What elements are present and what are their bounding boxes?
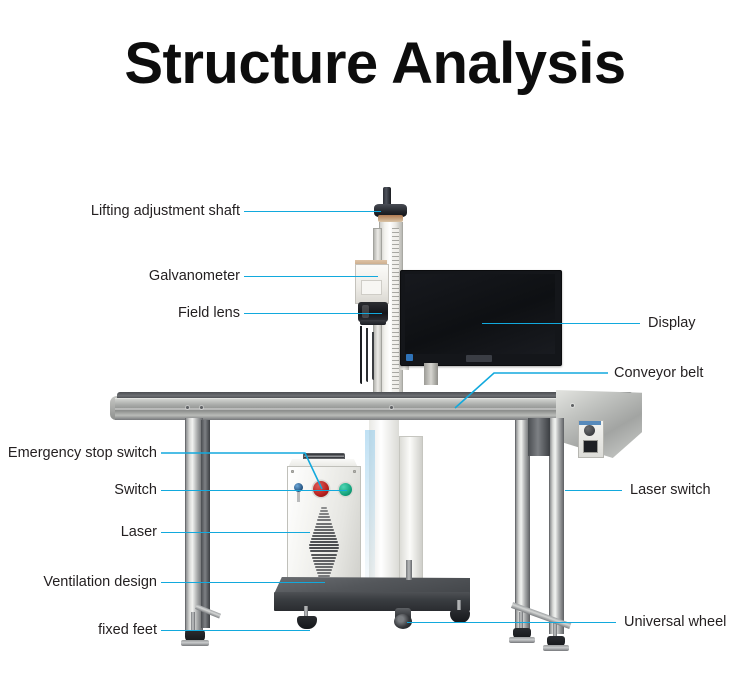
leader-line-field-lens	[244, 313, 382, 314]
vent-slot	[310, 541, 339, 543]
conveyor-bolt	[186, 406, 189, 409]
cable-bundle-a	[360, 326, 362, 384]
vent-slot	[312, 557, 337, 559]
leader-line-fixed-feet	[161, 630, 310, 631]
display-power-led-icon	[406, 354, 413, 361]
left-leg-foot-pad	[181, 640, 209, 646]
conveyor-bolt	[390, 406, 393, 409]
callout-label-laser-switch: Laser switch	[630, 483, 711, 498]
leader-line-ventilation-design	[161, 582, 325, 583]
diagram-canvas: Structure Analysis	[0, 0, 750, 686]
cart-upright-post	[406, 560, 412, 580]
galvanometer-face-plate	[361, 280, 382, 295]
callout-label-field-lens: Field lens	[178, 306, 240, 321]
vent-slot	[315, 566, 333, 568]
leader-line-universal-wheel	[407, 622, 616, 623]
cable-bundle-c	[372, 332, 374, 380]
left-leg-foot-stem	[191, 612, 195, 632]
callout-label-lifting-adjustment-shaft: Lifting adjustment shaft	[91, 204, 240, 219]
cart-adjustable-foot-left	[297, 616, 317, 629]
vent-slot	[309, 544, 340, 546]
vent-slot	[320, 510, 328, 512]
leader-line-galvanometer	[244, 276, 378, 277]
vent-slot	[313, 560, 336, 562]
vent-slot	[313, 532, 336, 534]
vent-slot	[319, 513, 329, 515]
vent-slot	[316, 523, 332, 525]
field-lens-rim	[360, 320, 386, 325]
laser-switch-knob[interactable]	[584, 425, 595, 436]
universal-wheel-caster	[393, 608, 413, 628]
vent-slot	[311, 538, 338, 540]
vent-slot	[309, 547, 340, 549]
callout-label-conveyor-belt: Conveyor belt	[614, 366, 703, 381]
cable-bundle-b	[366, 328, 368, 382]
right-leg-bracket	[528, 418, 550, 456]
right-leg-front-foot-pad	[509, 637, 535, 643]
callout-label-ventilation-design: Ventilation design	[43, 575, 157, 590]
leader-line-switch	[161, 490, 347, 491]
vent-slot	[316, 569, 332, 571]
callout-label-emergency-stop-switch: Emergency stop switch	[8, 446, 157, 461]
vent-slot	[314, 529, 335, 531]
vent-slot	[314, 563, 335, 565]
conveyor-right-leg-back	[549, 418, 564, 634]
display-stand	[424, 363, 438, 385]
leader-line-laser-switch	[565, 490, 622, 491]
leader-line-display	[482, 323, 640, 324]
display-brand-logo	[466, 355, 492, 362]
vent-slot	[312, 535, 337, 537]
callout-label-laser: Laser	[121, 525, 157, 540]
leader-line-laser	[161, 532, 310, 533]
vent-slot	[317, 519, 331, 521]
conveyor-bolt	[200, 406, 203, 409]
machine-panel-reflection	[365, 430, 375, 580]
leader-line-emergency-stop-switch	[161, 443, 331, 495]
vent-slot	[321, 507, 327, 509]
control-panel-display	[583, 440, 598, 453]
column-measuring-scale	[392, 228, 399, 400]
callout-label-switch: Switch	[114, 483, 157, 498]
cabinet-screw	[353, 470, 356, 473]
vent-slot	[310, 550, 339, 552]
ventilation-grille	[305, 507, 343, 589]
display-screen	[405, 274, 555, 354]
field-lens-highlight	[362, 305, 369, 318]
callout-label-fixed-feet: fixed feet	[98, 623, 157, 638]
vent-slot	[315, 526, 333, 528]
vent-slot	[317, 572, 331, 574]
leader-line-lifting-adjustment-shaft	[244, 211, 381, 212]
callout-label-universal-wheel: Universal wheel	[624, 615, 726, 630]
vent-slot	[318, 516, 330, 518]
right-leg-back-foot-pad	[543, 645, 569, 651]
callout-label-display: Display	[648, 316, 696, 331]
column-collar	[378, 215, 403, 222]
vent-slot	[318, 575, 330, 577]
callout-label-galvanometer: Galvanometer	[149, 269, 240, 284]
leader-line-conveyor-belt	[452, 366, 608, 412]
vent-slot	[311, 554, 338, 556]
